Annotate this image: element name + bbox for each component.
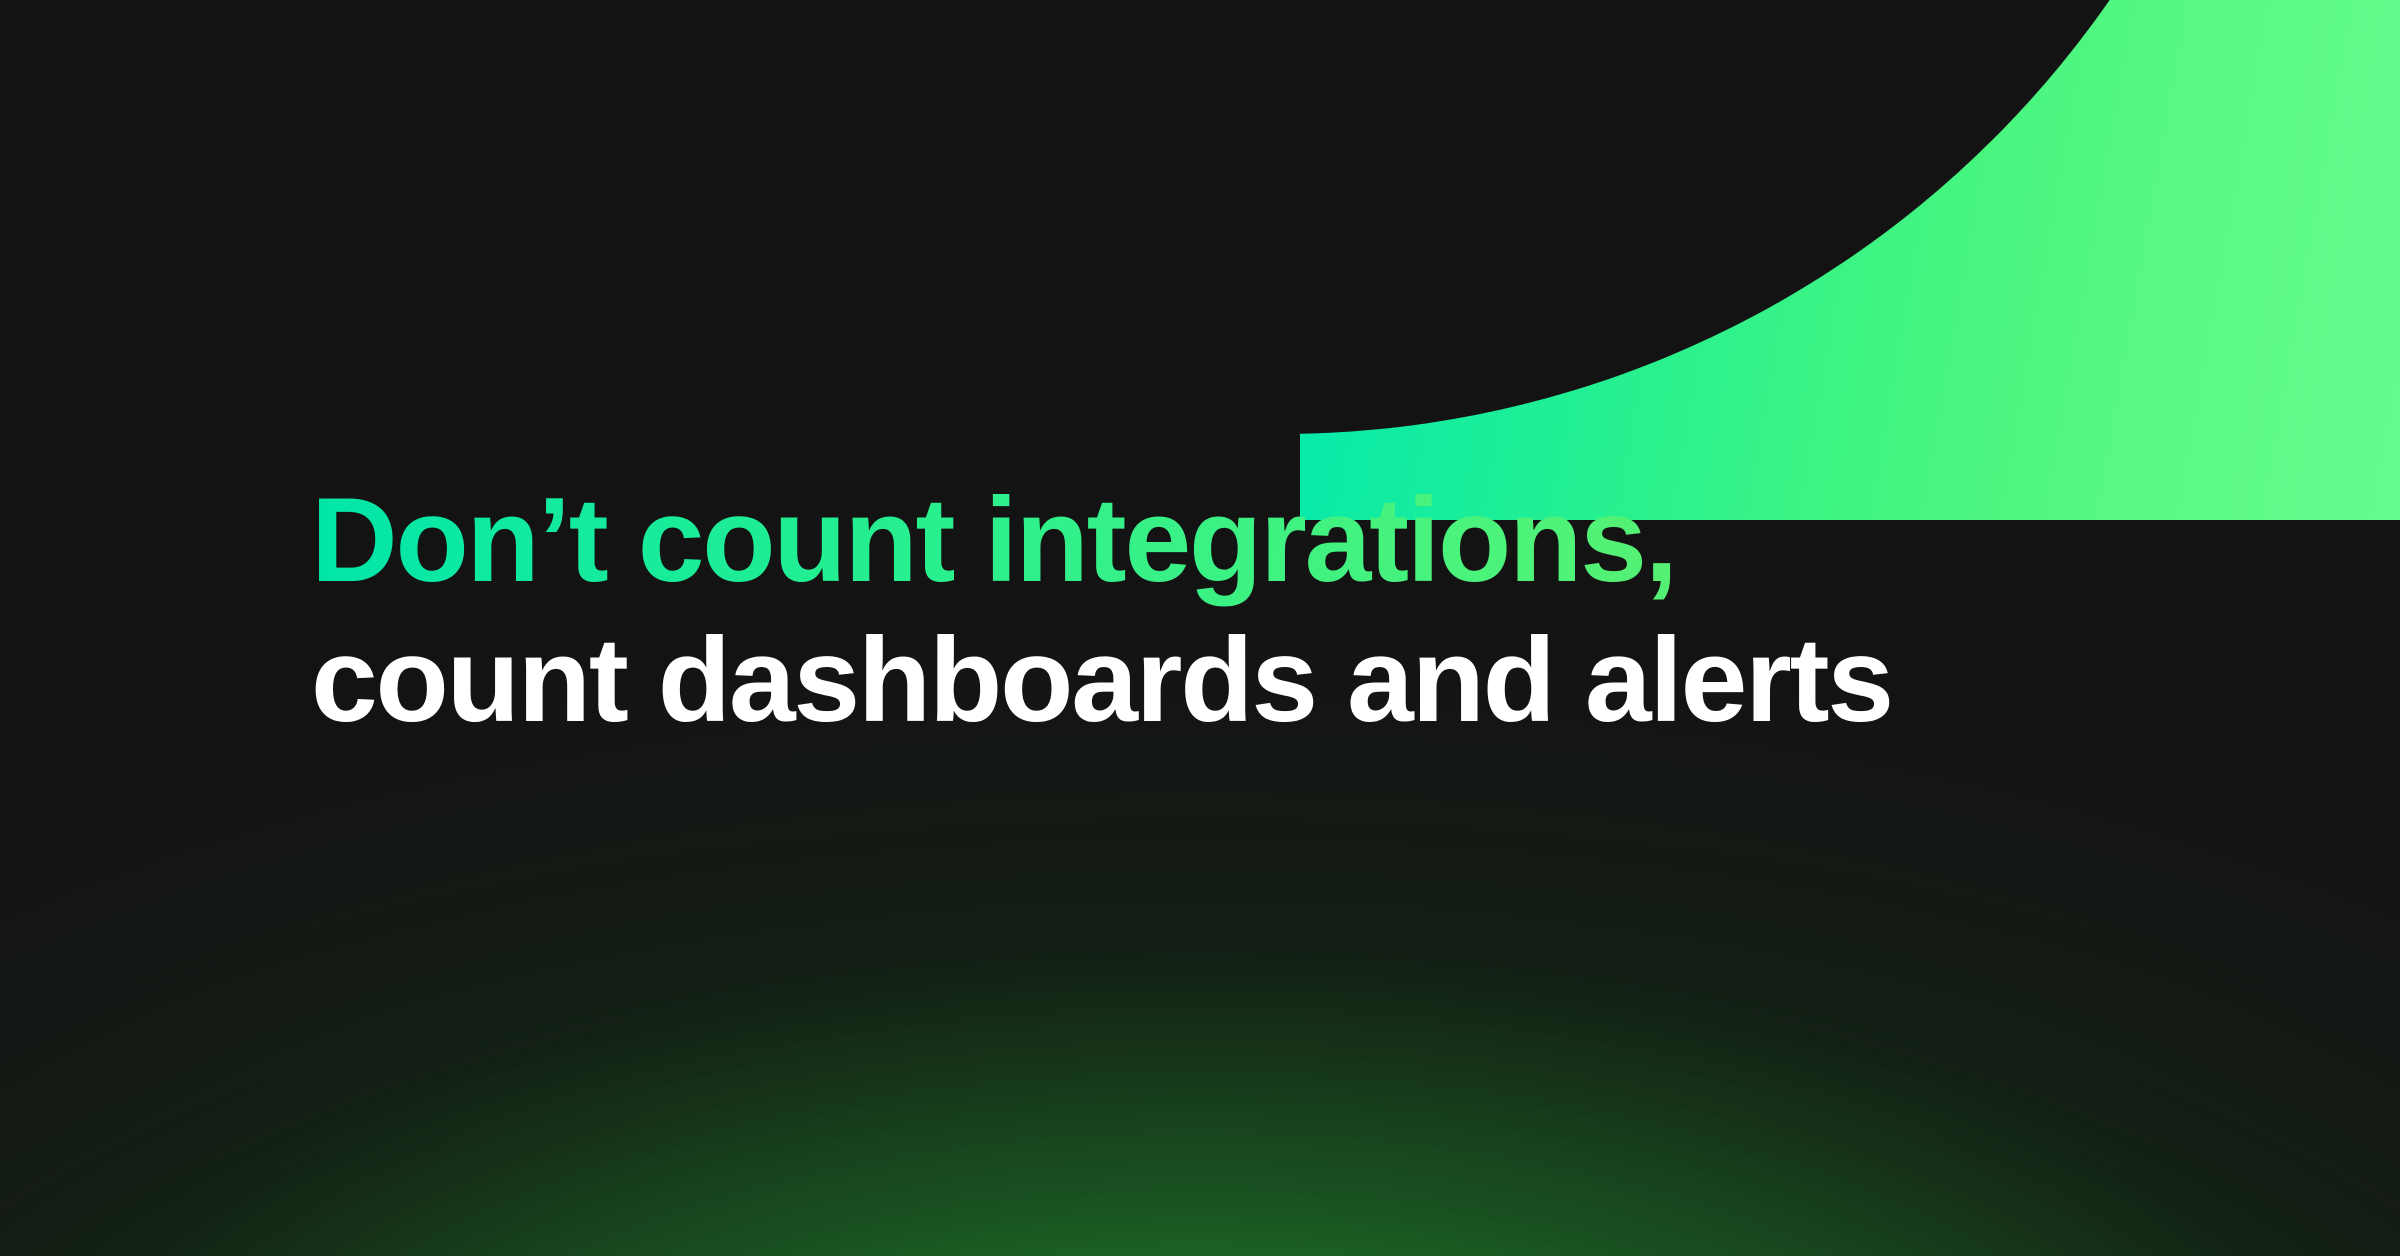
green-quarter-arc: [1300, 0, 2400, 520]
hero-slide: Don’t count integrations, count dashboar…: [0, 0, 2400, 1256]
headline-line-1: Don’t count integrations,: [311, 470, 2011, 610]
arc-inner-cutout: [1300, 0, 2290, 434]
headline-line-2: count dashboards and alerts: [311, 610, 2011, 750]
arc-gradient-fill: [1300, 0, 2400, 520]
hero-headline: Don’t count integrations, count dashboar…: [311, 470, 2011, 750]
